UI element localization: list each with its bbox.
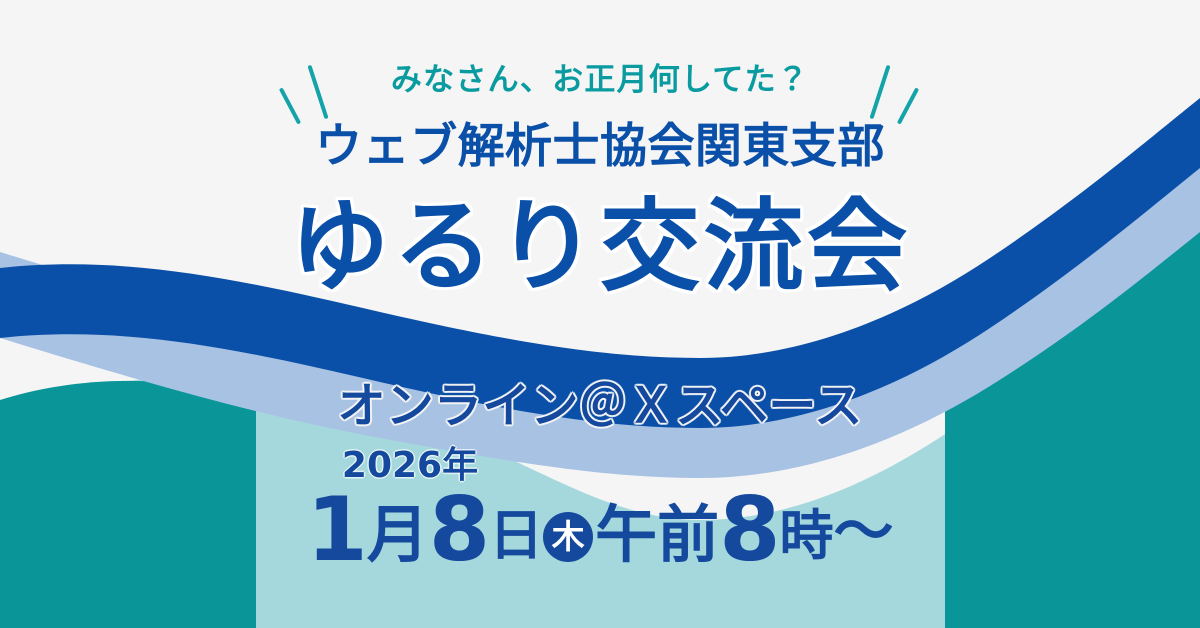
date-hour-label: 時 <box>780 504 834 567</box>
diagonal-slash-right-outer <box>897 87 919 124</box>
date-month-label: 月 <box>367 498 429 571</box>
poster-content: みなさん、お正月何してた？ ウェブ解析士協会関東支部 ゆるり交流会 オンライン＠… <box>0 0 1200 628</box>
date-day-label: 日 <box>489 504 543 567</box>
date-day-number: 8 <box>429 478 489 581</box>
diagonal-slash-left-inner <box>307 65 328 119</box>
date-hour-number: 8 <box>719 478 779 581</box>
organization-name: ウェブ解析士協会関東支部 <box>0 120 1200 174</box>
slash-group-left <box>286 58 356 120</box>
event-poster: みなさん、お正月何してた？ ウェブ解析士協会関東支部 ゆるり交流会 オンライン＠… <box>0 0 1200 628</box>
slash-group-right <box>848 58 924 120</box>
poster-kicker: みなさん、お正月何してた？ <box>0 62 1200 99</box>
date-ampm: 午前 <box>595 498 719 571</box>
date-month-number: 1 <box>306 478 366 581</box>
diagonal-slash-right-inner <box>869 65 890 119</box>
date-tilde: 〜 <box>834 497 894 567</box>
day-of-week-badge: 木 <box>543 512 593 562</box>
event-title: ゆるり交流会 <box>0 188 1200 306</box>
event-date-row: 1月8日木午前8時〜 <box>0 486 1200 574</box>
event-year-row: 2026年 <box>0 444 1200 487</box>
event-venue: オンライン＠Ｘスペース <box>0 378 1200 435</box>
